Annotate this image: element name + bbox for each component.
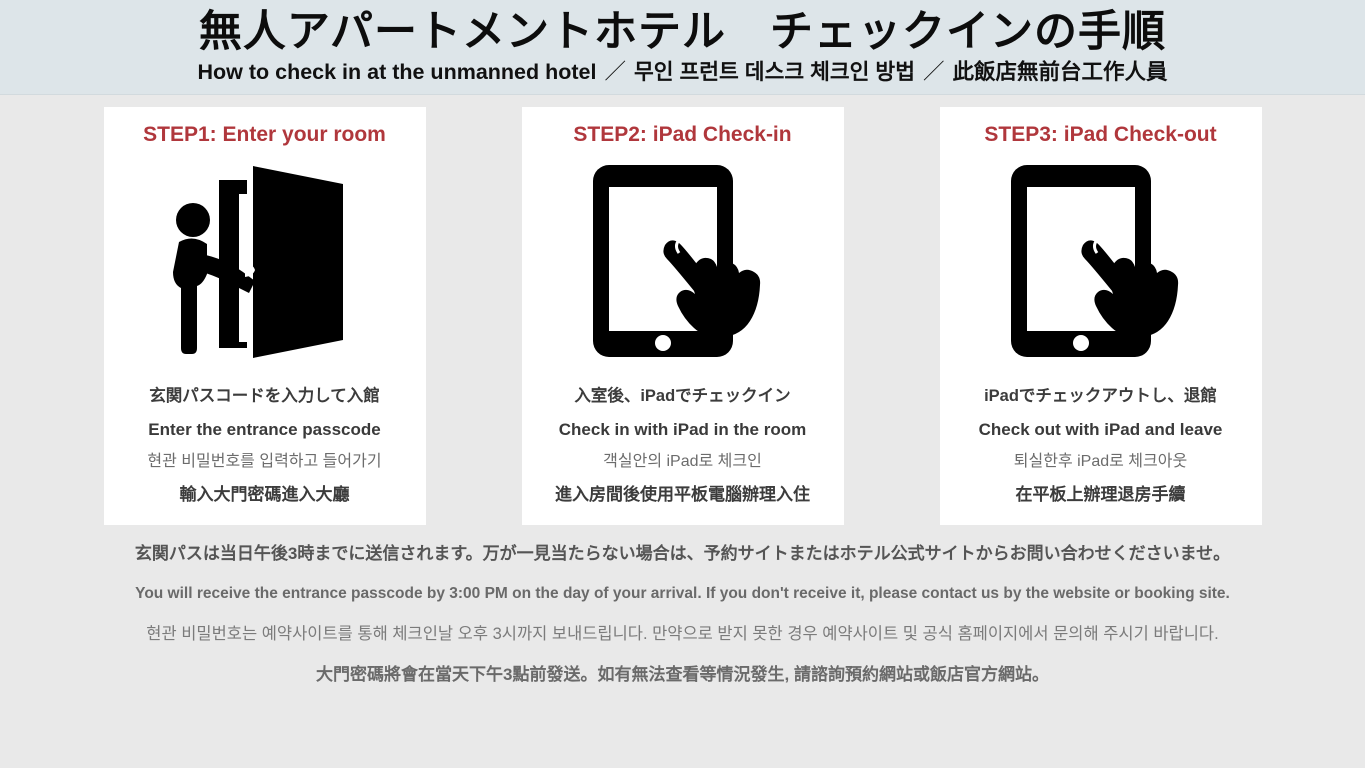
footer-notes: 玄関パスは当日午後3時までに送信されます。万が一見当たらない場合は、予約サイトま… — [0, 543, 1365, 686]
tablet-tap-hand-icon — [583, 161, 783, 361]
footer-note-zh: 大門密碼將會在當天下午3點前發送。如有無法查看等情況發生, 請諮詢預約網站或飯店… — [10, 664, 1355, 686]
step-1-illustration — [157, 153, 372, 368]
step-2-caption-ko: 객실안의 iPad로 체크인 — [603, 452, 762, 472]
footer-note-en: You will receive the entrance passcode b… — [10, 584, 1355, 604]
subtitle-separator-1: ／ — [602, 60, 628, 84]
subtitle-chinese: 此飯店無前台工作人員 — [952, 60, 1167, 84]
step-card-2: STEP2: iPad Check-in — [522, 107, 844, 525]
step-1-caption-ko: 현관 비밀번호를 입력하고 들어가기 — [147, 452, 381, 472]
step-1-caption-en: Enter the entrance passcode — [148, 419, 380, 440]
step-2-caption-en: Check in with iPad in the room — [559, 419, 806, 440]
person-opening-door-icon — [157, 158, 372, 363]
header-band: 無人アパートメントホテル チェックインの手順 How to check in a… — [0, 0, 1365, 95]
subtitle-separator-2: ／ — [921, 60, 947, 84]
page-title: 無人アパートメントホテル チェックインの手順 — [0, 6, 1365, 58]
step-2-heading: STEP2: iPad Check-in — [573, 123, 791, 147]
step-3-caption-en: Check out with iPad and leave — [979, 419, 1223, 440]
step-card-3: STEP3: iPad Check-out iPadでチェックアウトし、退館 C… — [940, 107, 1262, 525]
step-1-heading: STEP1: Enter your room — [143, 123, 386, 147]
tablet-tap-hand-icon — [1001, 161, 1201, 361]
page-subtitle: How to check in at the unmanned hotel ／ … — [0, 60, 1365, 86]
step-2-caption-zh: 進入房間後使用平板電腦辦理入住 — [555, 484, 810, 505]
step-3-caption-ko: 퇴실한후 iPad로 체크아웃 — [1014, 452, 1187, 472]
step-3-caption-ja: iPadでチェックアウトし、退館 — [984, 386, 1217, 407]
footer-note-ko: 현관 비밀번호는 예약사이트를 통해 체크인날 오후 3시까지 보내드립니다. … — [10, 624, 1355, 645]
steps-row: STEP1: Enter your room — [0, 95, 1365, 525]
checkin-guide-page: 無人アパートメントホテル チェックインの手順 How to check in a… — [0, 0, 1365, 768]
step-3-caption-zh: 在平板上辦理退房手續 — [1016, 484, 1186, 505]
step-2-captions: 入室後、iPadでチェックイン Check in with iPad in th… — [530, 380, 836, 511]
subtitle-korean: 무인 프런트 데스크 체크인 방법 — [634, 60, 915, 84]
step-3-heading: STEP3: iPad Check-out — [984, 123, 1216, 147]
subtitle-english: How to check in at the unmanned hotel — [197, 60, 596, 84]
step-1-caption-ja: 玄関パスコードを入力して入館 — [149, 386, 380, 407]
step-1-caption-zh: 輸入大門密碼進入大廳 — [180, 484, 350, 505]
step-card-1: STEP1: Enter your room — [104, 107, 426, 525]
step-1-captions: 玄関パスコードを入力して入館 Enter the entrance passco… — [112, 380, 418, 511]
step-2-illustration — [583, 153, 783, 368]
step-3-illustration — [1001, 153, 1201, 368]
footer-note-ja: 玄関パスは当日午後3時までに送信されます。万が一見当たらない場合は、予約サイトま… — [10, 543, 1355, 565]
step-2-caption-ja: 入室後、iPadでチェックイン — [574, 386, 790, 407]
step-3-captions: iPadでチェックアウトし、退館 Check out with iPad and… — [948, 380, 1254, 511]
